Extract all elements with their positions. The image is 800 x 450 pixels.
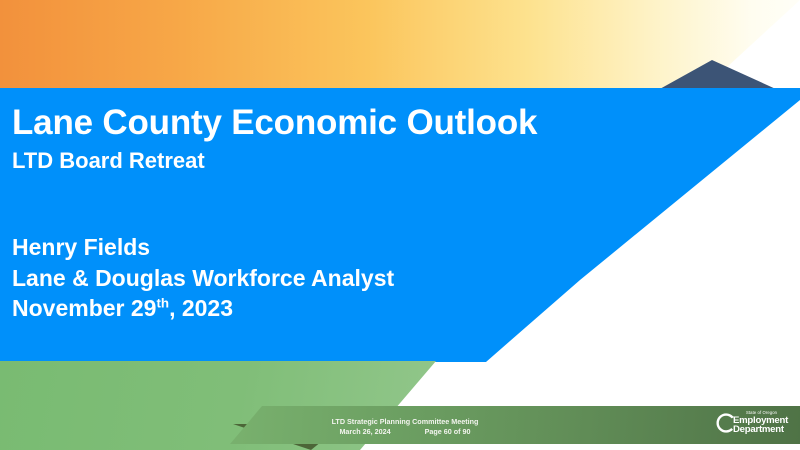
footer-page-number: Page 60 of 90	[425, 427, 471, 437]
footer-meeting-name: LTD Strategic Planning Committee Meeting	[300, 417, 510, 427]
oed-wordmark: State of Oregon Employment Department	[733, 411, 788, 435]
presenter-block: Henry Fields Lane & Douglas Workforce An…	[12, 232, 572, 324]
presentation-slide: Lane County Economic Outlook LTD Board R…	[0, 0, 800, 450]
date-year: , 2023	[169, 295, 233, 321]
date-ordinal-suffix: th	[156, 296, 169, 311]
title-block: Lane County Economic Outlook LTD Board R…	[12, 105, 612, 173]
footer-text: LTD Strategic Planning Committee Meeting…	[300, 417, 510, 437]
date-month-day: November 29	[12, 295, 156, 321]
footer-date: March 26, 2024	[339, 427, 390, 437]
presenter-role: Lane & Douglas Workforce Analyst	[12, 263, 572, 294]
orange-gradient-banner-overlay	[0, 0, 800, 90]
page-title: Lane County Economic Outlook	[12, 105, 612, 142]
presentation-date: November 29th, 2023	[12, 293, 572, 324]
presenter-name: Henry Fields	[12, 232, 572, 263]
oed-line-department: Department	[733, 425, 788, 434]
footer-meta-row: March 26, 2024 Page 60 of 90	[300, 427, 510, 437]
page-subtitle: LTD Board Retreat	[12, 149, 612, 173]
oregon-employment-department-logo: State of Oregon Employment Department	[714, 408, 792, 438]
